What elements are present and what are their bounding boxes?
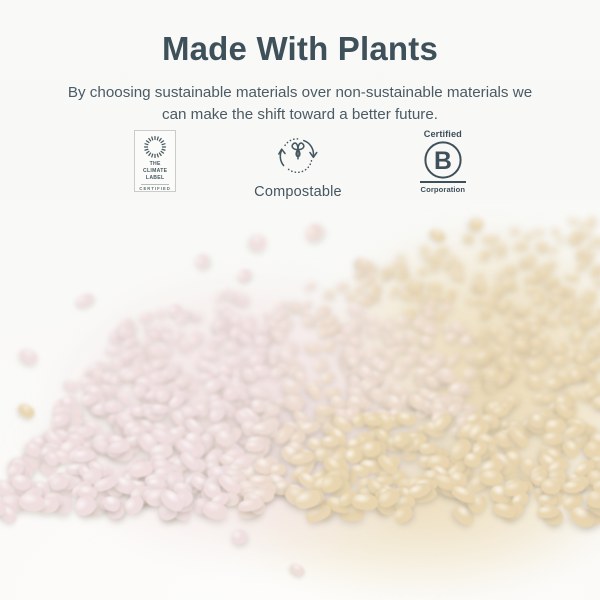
pellet: [525, 373, 546, 392]
climate-label-line-3: LABEL: [143, 175, 167, 182]
pellet: [471, 329, 487, 339]
pellet: [62, 379, 79, 394]
pellet: [521, 231, 533, 241]
pellet: [213, 292, 227, 305]
header: Made With Plants By choosing sustainable…: [0, 0, 600, 126]
pellet: [565, 273, 580, 283]
pellet: [539, 245, 550, 253]
pellet: [245, 440, 264, 451]
pellet: [288, 562, 306, 578]
pellet: [335, 282, 348, 291]
pellet: [445, 350, 462, 368]
pellet-heap: [0, 200, 600, 600]
climate-label-line-2: CLIMATE: [143, 168, 167, 175]
pellet: [581, 231, 592, 239]
pellet: [322, 435, 340, 446]
pellet: [546, 276, 561, 286]
pellet: [16, 401, 37, 421]
pellet: [235, 267, 253, 284]
pellet: [510, 227, 519, 236]
climate-label-frame: THE CLIMATE LABEL CERTIFIED: [134, 130, 176, 192]
poster-canvas: Made With Plants By choosing sustainable…: [0, 0, 600, 600]
page-subtitle: By choosing sustainable materials over n…: [65, 82, 535, 126]
pellet: [544, 315, 560, 330]
pellet: [548, 246, 557, 255]
climate-label-wordmark: THE CLIMATE LABEL: [143, 161, 167, 182]
page-title: Made With Plants: [0, 30, 600, 68]
pellet: [248, 232, 269, 252]
pellet: [365, 324, 380, 339]
pellet: [533, 230, 544, 235]
pellet: [415, 265, 429, 278]
pellet: [422, 325, 439, 336]
pellet: [531, 297, 545, 305]
sunburst-icon: [142, 135, 168, 159]
pellet: [224, 342, 239, 354]
pellet: [303, 281, 317, 292]
pellet: [466, 297, 482, 307]
pellet: [315, 404, 336, 415]
pellet: [304, 341, 323, 355]
pellet-photo: [0, 200, 600, 600]
pellet: [251, 423, 273, 435]
b-corp-icon: B: [423, 140, 463, 180]
pellet: [556, 236, 565, 245]
pellet: [139, 312, 156, 324]
pellet: [568, 217, 580, 225]
pellet: [74, 292, 96, 310]
pellet: [334, 334, 349, 344]
pellet: [551, 226, 561, 236]
pellet: [18, 346, 40, 367]
pellet: [428, 227, 447, 245]
pellet: [552, 354, 568, 367]
b-corp-certified-text: Certified: [424, 130, 462, 139]
pellet: [158, 331, 177, 346]
compostable-label: Compostable: [254, 184, 342, 200]
climate-label-divider: [141, 184, 169, 185]
pellet: [263, 404, 281, 417]
pellet: [486, 369, 500, 383]
b-corp-corporation-text: Corporation: [421, 186, 466, 194]
pellet: [467, 215, 486, 234]
pellet: [395, 315, 409, 327]
pellet: [593, 278, 600, 288]
pellet: [461, 366, 477, 382]
pellet: [474, 281, 490, 296]
climate-label-line-1: THE: [143, 161, 167, 168]
pellet: [562, 480, 586, 495]
compostable-loop-icon: [269, 130, 327, 178]
pellet: [553, 345, 568, 355]
pellet: [440, 302, 453, 313]
pellet: [324, 340, 336, 351]
pellet: [423, 309, 436, 318]
pellet: [302, 221, 325, 243]
pellet: [231, 529, 248, 546]
pellet: [387, 285, 401, 299]
b-corp-divider: [420, 181, 466, 183]
badge-compostable[interactable]: Compostable: [254, 130, 342, 200]
pellet: [451, 272, 466, 283]
svg-text:B: B: [434, 148, 452, 175]
pellet: [202, 349, 221, 361]
badge-b-corp[interactable]: Certified B Corporation: [420, 130, 466, 194]
pellet: [513, 320, 529, 332]
pellet: [151, 403, 168, 413]
pellet: [324, 289, 336, 300]
climate-label-certified-text: CERTIFIED: [139, 186, 171, 191]
pellet: [351, 492, 378, 510]
pellet: [590, 237, 600, 246]
badge-climate-label[interactable]: THE CLIMATE LABEL CERTIFIED: [134, 130, 176, 192]
pellet: [496, 243, 505, 252]
certification-badge-row: THE CLIMATE LABEL CERTIFIED: [0, 130, 600, 215]
pellet: [193, 252, 212, 271]
